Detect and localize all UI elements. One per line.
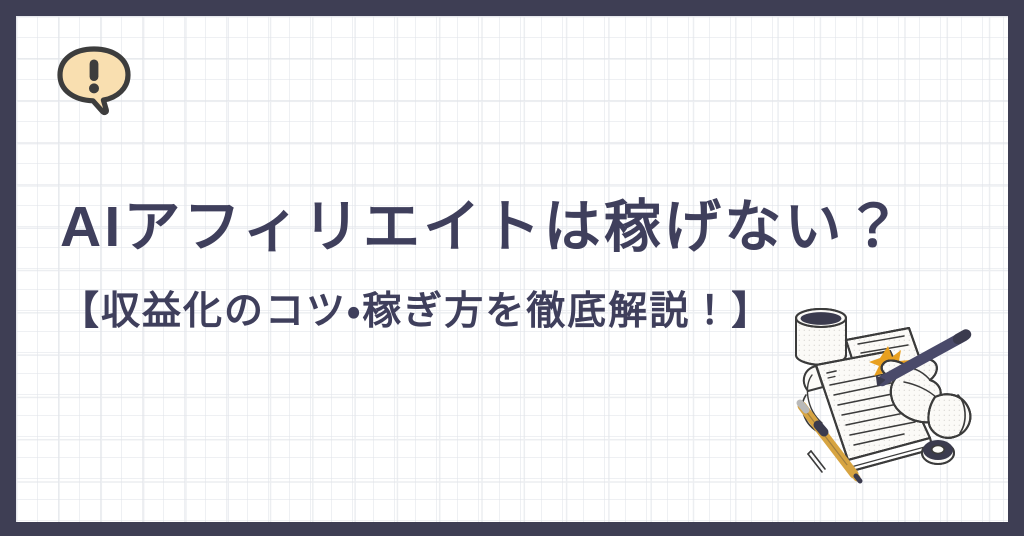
eyecatch-card: AIアフィリエイトは稼げない？ 【収益化のコツ・稼ぎ方を徹底解説！】 xyxy=(0,0,1024,536)
grid-paper-panel: AIアフィリエイトは稼げない？ 【収益化のコツ・稼ぎ方を徹底解説！】 xyxy=(16,16,1008,522)
hand-writing-in-notebook-illustration xyxy=(778,299,998,504)
page-title: AIアフィリエイトは稼げない？ xyxy=(60,194,980,261)
coffee-cup-icon xyxy=(796,309,846,365)
exclamation-speech-bubble-icon xyxy=(54,45,134,117)
tape-roll-icon xyxy=(922,440,954,464)
